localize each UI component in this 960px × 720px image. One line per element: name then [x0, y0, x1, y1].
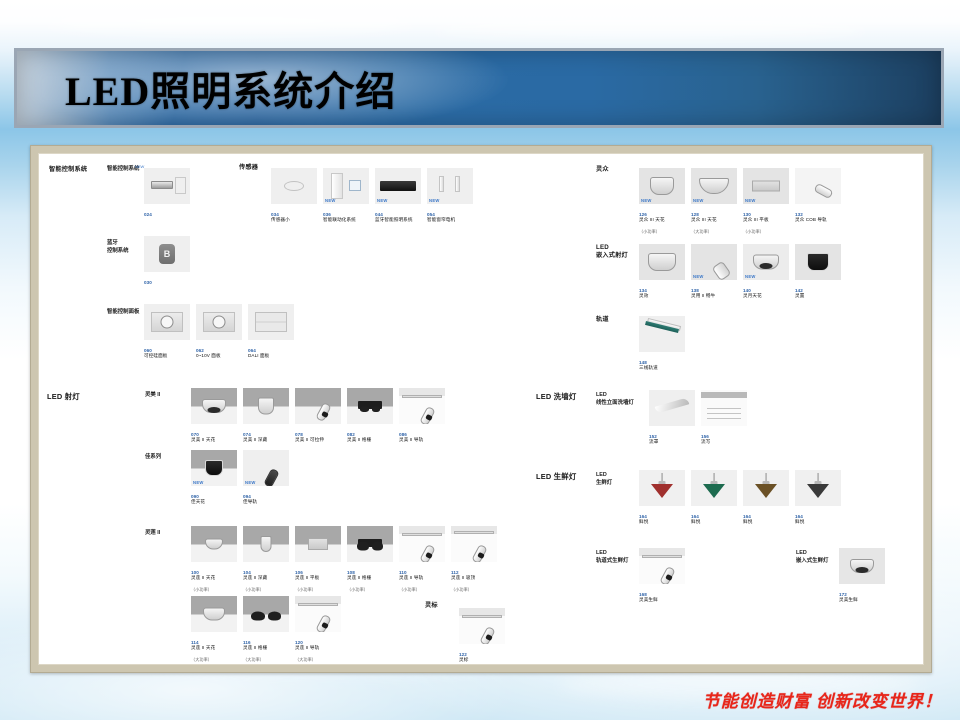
product-thumbnail: NEW [691, 244, 737, 280]
pendant-shade-icon [703, 484, 725, 498]
new-badge: NEW [245, 480, 256, 485]
product-name: 灵效 [639, 293, 648, 298]
product-card[interactable]: 034 传感器小 [271, 168, 317, 223]
product-name: 灵月天花 [743, 293, 762, 298]
product-caption: 164 鲜悦 [795, 508, 841, 525]
product-name: 灵莲 II 格栅 [243, 645, 267, 650]
product-caption: 156 流写 [701, 428, 747, 445]
product-name: 灵美 II 天花 [191, 437, 215, 442]
bluetooth-module-icon: B [159, 244, 175, 264]
product-card[interactable]: 064 DALI 面板 [248, 304, 294, 359]
product-thumbnail [144, 304, 190, 340]
title-banner: LED照明系统介绍 [14, 48, 944, 128]
detail-line [707, 418, 741, 419]
product-thumbnail: NEW [191, 450, 237, 486]
product-caption: 044 蓝牙智能照明系统 [375, 206, 421, 223]
product-row-lingbiao: 122 灵标 [459, 608, 505, 663]
product-thumbnail [347, 526, 393, 562]
product-subnote: （小功率） [639, 229, 660, 234]
product-card[interactable]: 062 0~10V 面板 [196, 304, 242, 359]
product-thumbnail [649, 390, 695, 426]
product-thumbnail [839, 548, 885, 584]
product-code: 164 [691, 514, 699, 519]
product-code: 164 [743, 514, 751, 519]
product-card[interactable]: 082 灵美 II 格栅 [347, 388, 393, 443]
downlight-icon [203, 608, 225, 621]
page-title: LED照明系统介绍 [65, 59, 396, 117]
product-caption: 152 流罩 [649, 428, 695, 445]
section-title-smart-control-system: 智能控制系统 [49, 166, 87, 174]
product-name: 灵众 III 平板 [743, 217, 769, 222]
product-card[interactable]: 156 流写 [701, 390, 747, 445]
pendant-shade-icon [755, 484, 777, 498]
product-caption: 062 0~10V 面板 [196, 342, 242, 359]
product-name: 鲜悦 [795, 519, 804, 524]
new-badge: NEW [641, 198, 652, 203]
product-code: 164 [795, 514, 803, 519]
cob-module-icon [807, 253, 829, 271]
product-name: 灵莲 II 吸顶 [451, 575, 475, 580]
group-title-jia-series: 佳系列 [145, 454, 161, 462]
product-thumbnail: NEW [639, 168, 685, 204]
group-title-track-fresh-light: LED 轨道式生鲜灯 [596, 550, 628, 565]
controller-box-icon [151, 181, 173, 189]
product-code: 152 [649, 434, 657, 439]
product-caption: 094 佳导轨 [243, 488, 289, 505]
product-code: 108 [347, 570, 355, 575]
product-name: 灵美生鲜 [639, 597, 658, 602]
product-caption: 112 灵莲 II 吸顶 （小功率） [451, 564, 497, 593]
product-subnote: （大功率） [691, 229, 712, 234]
detail-line [707, 408, 741, 409]
new-badge: NEW [693, 198, 704, 203]
product-code: 172 [839, 592, 847, 597]
product-name: 鲜悦 [691, 519, 700, 524]
product-caption: 122 灵标 [459, 646, 505, 663]
product-code: 054 [427, 212, 435, 217]
product-code: 070 [191, 432, 199, 437]
product-name: 流写 [701, 439, 710, 444]
product-code: 062 [196, 348, 204, 353]
product-name: 灵美 II 格栅 [347, 437, 371, 442]
product-code: 120 [295, 640, 303, 645]
product-caption: 108 灵莲 II 格栅 （小功率） [347, 564, 393, 593]
product-code: 064 [248, 348, 256, 353]
product-card[interactable]: B 030 [144, 236, 190, 285]
section-title-led-recessed-spotlight: LED 嵌入式射灯 [596, 244, 628, 261]
product-thumbnail [295, 596, 341, 632]
slide-root: LED照明系统介绍 智能控制系统 智能控制系统 NEW [0, 0, 960, 720]
product-card[interactable]: 106 灵莲 II 平板 （小功率） [295, 526, 341, 593]
product-name: 智能窗帘电机 [427, 217, 455, 222]
product-code: 024 [144, 212, 152, 217]
product-name: 0~10V 面板 [196, 353, 221, 358]
product-card[interactable]: 024 [144, 168, 190, 217]
product-card[interactable]: 120 灵莲 II 导轨 （大功率） [295, 596, 341, 663]
rotary-dial-icon [213, 316, 226, 329]
product-row-panels: 060 可控硅面板 062 0~10V 面板 [144, 304, 294, 359]
product-card[interactable]: NEW 054 智能窗帘电机 [427, 168, 473, 223]
group-title-linglian-2: 灵莲 II [145, 530, 160, 538]
downlight-aperture-icon [856, 567, 869, 573]
product-caption: 078 灵美 II 可拉伸 [295, 426, 341, 443]
product-thumbnail [639, 244, 685, 280]
product-name: 灵莲 II 导轨 [295, 645, 319, 650]
product-name: 灵莲 II 导轨 [399, 575, 423, 580]
section-title-led-wall-washer: LED 洗墙灯 [536, 392, 576, 402]
product-code: 156 [701, 434, 709, 439]
product-caption: 148 三线轨道 [639, 354, 685, 371]
product-caption: 054 智能窗帘电机 [427, 206, 473, 223]
product-caption: 070 灵美 II 天花 [191, 426, 237, 443]
grille-cells-icon [251, 611, 281, 620]
product-name: 灵众 COB 导轨 [795, 217, 827, 222]
group-title-bluetooth-control: 蓝牙 控制系统 [107, 240, 129, 255]
product-code: 060 [144, 348, 152, 353]
curtain-motor-icon [439, 176, 444, 192]
product-subnote: （大功率） [243, 657, 264, 662]
product-card[interactable]: 134 灵效 [639, 244, 685, 299]
product-name: 鲜悦 [639, 519, 648, 524]
product-thumbnail [191, 596, 237, 632]
product-code: 044 [375, 212, 383, 217]
panel-body-icon [255, 312, 287, 332]
product-code: 110 [399, 570, 407, 575]
product-name: 鲜悦 [743, 519, 752, 524]
product-thumbnail [701, 390, 747, 426]
ceiling-section-icon [701, 392, 747, 398]
product-name: 可控硅面板 [144, 353, 167, 358]
product-name: 蓝牙智能照明系统 [375, 217, 413, 222]
product-thumbnail [451, 526, 497, 562]
product-card[interactable]: 152 流罩 [649, 390, 695, 445]
track-rail-icon [402, 533, 442, 536]
gateway-device-icon [380, 181, 416, 191]
product-thumbnail [795, 470, 841, 506]
product-code: 082 [347, 432, 355, 437]
product-code: 142 [795, 288, 803, 293]
product-code: 128 [691, 212, 699, 217]
product-card[interactable]: 070 灵美 II 天花 [191, 388, 237, 443]
product-code: 122 [459, 652, 467, 657]
product-name: 灵莲 II 平板 [295, 575, 319, 580]
product-row-jia-series: NEW 090 佳天花 NEW [191, 450, 289, 505]
product-caption: 172 灵美生鲜 [839, 586, 885, 603]
new-badge: NEW [745, 198, 756, 203]
product-name: 三线轨道 [639, 365, 658, 370]
product-caption: 082 灵美 II 格栅 [347, 426, 393, 443]
product-code: 168 [639, 592, 647, 597]
product-code: 104 [243, 570, 251, 575]
product-row-linglian-2-high-power: 114 灵莲 II 天花 （大功率） 116 灵莲 II 格栅 [191, 596, 341, 663]
product-row-bluetooth: B 030 [144, 236, 190, 285]
product-name: 灵莲 II 天花 [191, 575, 215, 580]
product-name: 佳天花 [191, 499, 205, 504]
product-caption: 168 灵美生鲜 [639, 586, 685, 603]
product-card[interactable]: 164 鲜悦 [795, 470, 841, 525]
ceiling-mount-icon [454, 531, 494, 534]
product-subnote: （小功率） [295, 587, 316, 592]
product-name: 灵美 II 可拉伸 [295, 437, 324, 442]
catalog-left-column: 智能控制系统 智能控制系统 NEW 024 [39, 154, 584, 664]
product-thumbnail: NEW [743, 168, 789, 204]
group-title-recessed-fresh-light: LED 嵌入式生鲜灯 [796, 550, 828, 565]
product-card[interactable]: 148 三线轨道 [639, 316, 685, 371]
product-subnote: （大功率） [295, 657, 316, 662]
product-caption: 132 灵众 COB 导轨 [795, 206, 841, 223]
product-caption: 140 灵月天花 [743, 282, 789, 299]
product-subnote: （小功率） [451, 587, 472, 592]
product-thumbnail [295, 388, 341, 424]
product-row-led-recessed: 134 灵效 NEW 138 灵用 II 畅牛 [639, 244, 841, 299]
product-name: 灵莲 II 深藏 [243, 575, 267, 580]
product-card[interactable]: 164 鲜悦 [639, 470, 685, 525]
product-caption: 128 灵众 III 天花 （大功率） [691, 206, 737, 235]
product-code: 164 [639, 514, 647, 519]
product-card[interactable]: 112 灵莲 II 吸顶 （小功率） [451, 526, 497, 593]
new-badge: NEW [745, 274, 756, 279]
group-title-lingmei-2: 灵美 II [145, 392, 160, 400]
product-caption: 130 灵众 III 平板 （小功率） [743, 206, 789, 235]
product-code: 074 [243, 432, 251, 437]
downlight-icon [699, 178, 729, 194]
product-name: 灵置 [795, 293, 804, 298]
product-card[interactable]: 122 灵标 [459, 608, 505, 663]
product-code: 130 [743, 212, 751, 217]
product-card[interactable]: 104 灵莲 II 深藏 （小功率） [243, 526, 289, 593]
cloud-streak-2 [430, 18, 870, 38]
product-thumbnail: B [144, 236, 190, 272]
product-name: 佳导轨 [243, 499, 257, 504]
product-thumbnail [243, 388, 289, 424]
product-card[interactable]: NEW 126 灵众 III 天花 （小功率） [639, 168, 685, 235]
product-code: 090 [191, 494, 199, 499]
track-spot-icon [263, 468, 279, 486]
product-name: 灵标 [459, 657, 468, 662]
product-card[interactable]: 060 可控硅面板 [144, 304, 190, 359]
new-badge: NEW [193, 480, 204, 485]
downlight-icon [650, 177, 674, 195]
new-badge: NEW [429, 198, 440, 203]
product-thumbnail [639, 316, 685, 352]
product-row-fresh-food: 164 鲜悦 164 鲜悦 [639, 470, 841, 525]
product-subnote: （大功率） [191, 657, 212, 662]
product-code: 140 [743, 288, 751, 293]
catalog-right-column: 灵众 NEW 126 灵众 III 天花 （小功率） [584, 154, 924, 664]
product-thumbnail [243, 526, 289, 562]
flat-panel-icon [752, 181, 780, 192]
product-thumbnail [248, 304, 294, 340]
deep-recessed-icon [258, 398, 274, 415]
product-row-sensors: 034 传感器小 NEW 036 [271, 168, 473, 223]
product-thumbnail [295, 526, 341, 562]
product-code: 094 [243, 494, 251, 499]
downlight-aperture-icon [760, 263, 773, 269]
product-thumbnail [191, 526, 237, 562]
product-caption: 104 灵莲 II 深藏 （小功率） [243, 564, 289, 593]
downlight-icon [205, 539, 223, 550]
product-code: 126 [639, 212, 647, 217]
product-card[interactable]: 172 灵美生鲜 [839, 548, 885, 603]
cob-track-spot-icon [813, 183, 833, 199]
product-code: 138 [691, 288, 699, 293]
product-thumbnail: NEW [323, 168, 369, 204]
product-row-track: 148 三线轨道 [639, 316, 685, 371]
section-title-lingzhong: 灵众 [596, 166, 609, 174]
product-name: 灵美 II 导轨 [399, 437, 423, 442]
grille-cells-icon [357, 541, 383, 550]
new-badge: NEW [325, 198, 336, 203]
product-code: 116 [243, 640, 251, 645]
product-row-wall-washer: 152 流罩 156 [649, 390, 747, 445]
product-card[interactable]: NEW 138 灵用 II 畅牛 [691, 244, 737, 299]
product-caption: 110 灵莲 II 导轨 （小功率） [399, 564, 445, 593]
product-thumbnail [243, 596, 289, 632]
track-rail-icon [298, 603, 338, 606]
flat-panel-icon [308, 538, 328, 550]
product-thumbnail [459, 608, 505, 644]
touch-screen-icon [349, 180, 361, 191]
product-card[interactable]: 108 灵莲 II 格栅 （小功率） [347, 526, 393, 593]
product-subnote: （小功率） [743, 229, 764, 234]
product-caption: 060 可控硅面板 [144, 342, 190, 359]
product-card[interactable]: NEW 036 智能联动化系统 [323, 168, 369, 223]
product-code: 112 [451, 570, 459, 575]
product-card[interactable]: 086 灵美 II 导轨 [399, 388, 445, 443]
product-card[interactable]: NEW 130 灵众 III 平板 （小功率） [743, 168, 789, 235]
product-card[interactable]: 116 灵莲 II 格栅 （大功率） [243, 596, 289, 663]
cloud-streak-1 [40, 8, 420, 34]
product-thumbnail: NEW [743, 244, 789, 280]
group-title-linear-wall-washer: LED 线性立面洗墙灯 [596, 392, 634, 407]
product-caption: 034 传感器小 [271, 206, 317, 223]
product-caption: 164 鲜悦 [639, 508, 685, 525]
product-subnote: （小功率） [347, 587, 368, 592]
new-badge: NEW [377, 198, 388, 203]
product-card[interactable]: 078 灵美 II 可拉伸 [295, 388, 341, 443]
product-card[interactable]: 114 灵莲 II 天花 （大功率） [191, 596, 237, 663]
product-thumbnail [639, 548, 685, 584]
product-card[interactable]: NEW 044 蓝牙智能照明系统 [375, 168, 421, 223]
new-badge-group: NEW [135, 164, 144, 169]
product-name: 传感器小 [271, 217, 290, 222]
product-code: 106 [295, 570, 303, 575]
product-thumbnail: NEW [691, 168, 737, 204]
product-caption: 138 灵用 II 畅牛 [691, 282, 737, 299]
product-thumbnail [691, 470, 737, 506]
product-subnote: （小功率） [243, 587, 264, 592]
product-caption: 120 灵莲 II 导轨 （大功率） [295, 634, 341, 663]
cob-downlight-icon [205, 460, 223, 476]
pendant-shade-icon [651, 484, 673, 498]
product-card[interactable]: NEW 090 佳天花 [191, 450, 237, 505]
product-thumbnail [399, 388, 445, 424]
product-name: 灵众 III 天花 [639, 217, 665, 222]
product-card[interactable]: NEW 128 灵众 III 天花 （大功率） [691, 168, 737, 235]
product-caption: 074 灵美 II 深藏 [243, 426, 289, 443]
product-name: DALI 面板 [248, 353, 269, 358]
product-name: 灵用 II 畅牛 [691, 293, 715, 298]
product-row-track-fresh: 168 灵美生鲜 [639, 548, 685, 603]
product-thumbnail [271, 168, 317, 204]
product-subnote: （小功率） [191, 587, 212, 592]
product-caption: 036 智能联动化系统 [323, 206, 369, 223]
product-name: 灵美 II 深藏 [243, 437, 267, 442]
product-thumbnail [196, 304, 242, 340]
group-title-fresh-food-light: LED 生鲜灯 [596, 472, 612, 487]
product-row-lingmei-2: 070 灵美 II 天花 074 灵美 II 深藏 [191, 388, 445, 443]
product-name: 智能联动化系统 [323, 217, 356, 222]
product-card[interactable]: NEW 140 灵月天花 [743, 244, 789, 299]
product-code: 078 [295, 432, 303, 437]
product-subnote: （小功率） [399, 587, 420, 592]
product-thumbnail [347, 388, 393, 424]
product-row-recessed-fresh: 172 灵美生鲜 [839, 548, 885, 603]
catalog-frame: 智能控制系统 智能控制系统 NEW 024 [30, 145, 932, 673]
grille-cells-icon [360, 406, 380, 412]
track-rail-icon [462, 615, 502, 618]
curtain-motor-icon [455, 176, 460, 192]
section-title-track: 轨道 [596, 316, 609, 324]
product-name: 灵众 III 天花 [691, 217, 717, 222]
product-caption: 116 灵莲 II 格栅 （大功率） [243, 634, 289, 663]
product-thumbnail [795, 168, 841, 204]
product-name: 灵莲 II 天花 [191, 645, 215, 650]
product-code: 030 [144, 280, 152, 285]
product-caption: 164 鲜悦 [691, 508, 737, 525]
product-card[interactable]: 132 灵众 COB 导轨 [795, 168, 841, 235]
track-rail-icon [642, 555, 682, 558]
section-title-led-spotlight: LED 射灯 [47, 392, 80, 402]
downlight-aperture-icon [208, 407, 221, 413]
product-card[interactable]: 164 鲜悦 [743, 470, 789, 525]
product-card[interactable]: 110 灵莲 II 导轨 （小功率） [399, 526, 445, 593]
product-caption: 100 灵莲 II 天花 （小功率） [191, 564, 237, 593]
new-badge: NEW [693, 274, 704, 279]
product-caption: 126 灵众 III 天花 （小功率） [639, 206, 685, 235]
product-card[interactable]: 164 鲜悦 [691, 470, 737, 525]
product-caption: 030 [144, 274, 190, 285]
product-code: 132 [795, 212, 803, 217]
product-thumbnail: NEW [427, 168, 473, 204]
product-thumbnail [639, 470, 685, 506]
deep-recessed-icon [261, 536, 272, 552]
product-name: 灵美生鲜 [839, 597, 858, 602]
slogan-text: 节能创造财富 创新改变世界！ [703, 687, 942, 712]
group-title-smart-panels: 智能控制面板 [107, 309, 139, 317]
product-code: 036 [323, 212, 331, 217]
product-caption: 024 [144, 206, 190, 217]
product-card[interactable]: 074 灵美 II 深藏 [243, 388, 289, 443]
detail-line [707, 413, 741, 414]
product-caption: 086 灵美 II 导轨 [399, 426, 445, 443]
product-code: 148 [639, 360, 647, 365]
catalog-page: 智能控制系统 智能控制系统 NEW 024 [38, 153, 924, 665]
product-thumbnail [743, 470, 789, 506]
product-caption: 064 DALI 面板 [248, 342, 294, 359]
rotary-dial-icon [161, 316, 174, 329]
product-code: 086 [399, 432, 407, 437]
product-card[interactable]: NEW 094 佳导轨 [243, 450, 289, 505]
product-caption: 164 鲜悦 [743, 508, 789, 525]
product-name: 灵莲 II 格栅 [347, 575, 371, 580]
product-thumbnail: NEW [375, 168, 421, 204]
reflector-downlight-icon [648, 253, 676, 271]
product-card[interactable]: 142 灵置 [795, 244, 841, 299]
product-card[interactable]: 168 灵美生鲜 [639, 548, 685, 603]
product-card[interactable]: 100 灵莲 II 天花 （小功率） [191, 526, 237, 593]
wiring-diagram-icon [175, 177, 186, 194]
